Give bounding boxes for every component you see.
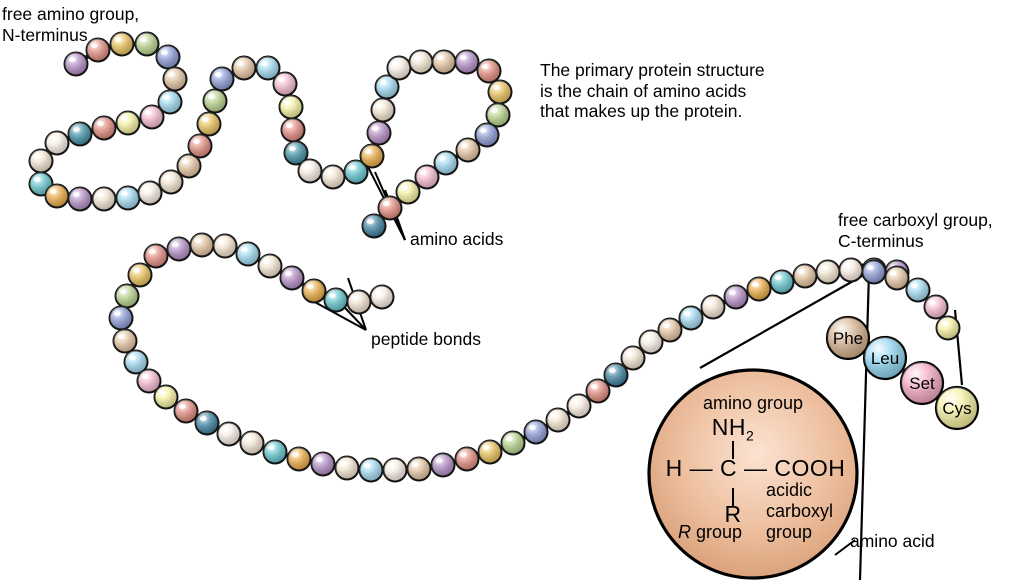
amino-acid-bead — [69, 123, 92, 146]
bead-highlight — [420, 170, 427, 175]
bead-shading — [817, 261, 840, 284]
bead-highlight — [140, 37, 147, 42]
amino-acid-bead — [863, 261, 886, 284]
amino-acid-bead — [303, 280, 326, 303]
bead-highlight — [436, 458, 443, 463]
bead-highlight — [292, 452, 299, 457]
amino-acid-bead — [93, 117, 116, 140]
bead-shading — [233, 57, 256, 80]
bead-shading — [196, 412, 219, 435]
amino-acids-label: amino acids — [410, 229, 503, 250]
bead-highlight — [529, 425, 536, 430]
amino-acid-bead — [114, 330, 137, 353]
bead-shading — [547, 409, 570, 432]
bead-shading — [587, 380, 610, 403]
bead-shading — [141, 106, 164, 129]
bead-shading — [46, 132, 69, 155]
amino-acid-bead — [525, 421, 548, 444]
amino-acid-bead — [196, 412, 219, 435]
amino-acid-bead — [160, 171, 183, 194]
bead-highlight — [97, 121, 104, 126]
n-terminus-label: free amino group, N-terminus — [2, 4, 139, 45]
bead-highlight — [367, 219, 374, 224]
bead-shading — [680, 307, 703, 330]
bead-shading — [384, 459, 407, 482]
bead-highlight — [867, 265, 874, 270]
amino-acid-bead — [476, 124, 499, 147]
bead-highlight — [775, 275, 782, 280]
amino-acid-bead — [214, 235, 237, 258]
bead-shading — [191, 234, 214, 257]
bead-highlight — [241, 247, 248, 252]
bead-highlight — [129, 355, 136, 360]
bead-shading — [840, 259, 863, 282]
bead-highlight — [172, 242, 179, 247]
amino-acid-bead — [299, 160, 322, 183]
bead-highlight — [439, 156, 446, 161]
amino-acid-bead — [288, 448, 311, 471]
bead-highlight — [202, 117, 209, 122]
amino-acid-bead — [368, 122, 391, 145]
amino-acid-bead — [145, 245, 168, 268]
bead-highlight — [729, 290, 736, 295]
bead-highlight — [626, 351, 633, 356]
bead-highlight — [551, 413, 558, 418]
bead-shading — [204, 90, 227, 113]
bead-highlight — [268, 445, 275, 450]
amino-acid-bead — [336, 457, 359, 480]
bead-shading — [456, 51, 479, 74]
carboxyl-label: acidic carboxyl group — [766, 480, 876, 543]
bead-highlight — [145, 110, 152, 115]
bead-shading — [489, 81, 512, 104]
bead-shading — [397, 181, 420, 204]
amino-acid-bead — [175, 400, 198, 423]
bead-highlight — [911, 283, 918, 288]
residue-label-set: Set — [909, 374, 935, 393]
bead-shading — [360, 459, 383, 482]
amino-acid-bead — [241, 432, 264, 455]
bead-highlight — [684, 311, 691, 316]
amino-acid-bead — [478, 60, 501, 83]
bead-shading — [303, 280, 326, 303]
amino-acid-bead — [141, 106, 164, 129]
amino-acid-bead — [410, 51, 433, 74]
amino-acid-bead — [155, 386, 178, 409]
bead-highlight — [380, 80, 387, 85]
bead-shading — [457, 139, 480, 162]
bead-highlight — [401, 185, 408, 190]
amino-acid-bead — [489, 81, 512, 104]
bead-shading — [30, 150, 53, 173]
bead-highlight — [73, 192, 80, 197]
bead-shading — [155, 386, 178, 409]
amino-acid-bead — [925, 296, 948, 319]
amino-acid-bead — [360, 459, 383, 482]
amino-acid-bead — [456, 51, 479, 74]
bead-highlight — [375, 290, 382, 295]
bead-shading — [282, 119, 305, 142]
bead-highlight — [218, 239, 225, 244]
bead-shading — [361, 145, 384, 168]
bead-shading — [771, 271, 794, 294]
bead-highlight — [352, 295, 359, 300]
amino-acid-bead — [771, 271, 794, 294]
bead-shading — [325, 289, 348, 312]
bead-highlight — [263, 259, 270, 264]
nh2-text: NH — [712, 414, 746, 440]
bead-highlight — [572, 399, 579, 404]
bead-highlight — [506, 436, 513, 441]
bead-highlight — [161, 50, 168, 55]
bead-highlight — [340, 461, 347, 466]
bead-shading — [525, 421, 548, 444]
backbone-line: H — C — COOH — [653, 456, 858, 481]
amino-acid-bead — [117, 112, 140, 135]
bead-shading — [312, 453, 335, 476]
bead-shading — [408, 458, 431, 481]
bead-shading — [117, 112, 140, 135]
bead-highlight — [50, 136, 57, 141]
amino-acid-bead — [397, 181, 420, 204]
amino-acid-bead — [363, 215, 386, 238]
diagram-canvas: PheLeuSetCys free amino group, N-terminu… — [0, 0, 1013, 586]
bead-highlight — [303, 164, 310, 169]
amino-acid-bead — [259, 255, 282, 278]
amino-acid-bead — [348, 291, 371, 314]
bead-shading — [117, 187, 140, 210]
amino-acid-bead — [69, 188, 92, 211]
bead-highlight — [289, 146, 296, 151]
bead-highlight — [483, 445, 490, 450]
bead-shading — [93, 188, 116, 211]
amino-acid-bead — [191, 234, 214, 257]
bead-shading — [416, 166, 439, 189]
r-group-rest: group — [691, 522, 742, 542]
bead-highlight — [149, 249, 156, 254]
bead-shading — [886, 267, 909, 290]
amino-acid-bead — [605, 364, 628, 387]
amino-acid-bead — [680, 307, 703, 330]
amino-acid-bead — [408, 458, 431, 481]
amino-acid-bead — [110, 307, 133, 330]
amino-acid-bead — [937, 317, 960, 340]
bead-shading — [336, 457, 359, 480]
bead-shading — [164, 68, 187, 91]
bead-highlight — [493, 85, 500, 90]
bead-shading — [198, 113, 221, 136]
bead-highlight — [284, 100, 291, 105]
amino-acid-bead — [164, 68, 187, 91]
bead-shading — [371, 286, 394, 309]
bead-highlight — [159, 390, 166, 395]
bead-highlight — [941, 321, 948, 326]
bead-shading — [129, 264, 152, 287]
amino-acid-bead — [139, 182, 162, 205]
bead-highlight — [307, 284, 314, 289]
amino-acid-bead — [218, 423, 241, 446]
bead-highlight — [644, 335, 651, 340]
bead-highlight — [365, 149, 372, 154]
bead-shading — [348, 291, 371, 314]
bead-highlight — [844, 263, 851, 268]
bead-highlight — [929, 300, 936, 305]
amino-group-label: amino group — [653, 394, 853, 414]
bead-shading — [139, 182, 162, 205]
bead-shading — [907, 279, 930, 302]
amino-acid-bead — [432, 454, 455, 477]
bead-shading — [937, 317, 960, 340]
amino-acid-bead — [702, 296, 725, 319]
bead-shading — [388, 57, 411, 80]
bead-highlight — [316, 457, 323, 462]
amino-acid-bead — [46, 185, 69, 208]
amino-acid-bead — [93, 188, 116, 211]
bead-shading — [69, 123, 92, 146]
bead-shading — [264, 441, 287, 464]
bead-shading — [299, 160, 322, 183]
bead-highlight — [798, 269, 805, 274]
bead-shading — [363, 215, 386, 238]
bead-highlight — [706, 300, 713, 305]
bead-highlight — [121, 116, 128, 121]
nh2-group: NH2 — [653, 415, 813, 444]
peptide-bonds-label: peptide bonds — [371, 329, 481, 350]
bead-shading — [379, 197, 402, 220]
amino-acid-bead — [547, 409, 570, 432]
amino-acid-bead — [322, 166, 345, 189]
bead-highlight — [752, 282, 759, 287]
bead-shading — [456, 448, 479, 471]
bead-shading — [281, 267, 304, 290]
bead-highlight — [591, 384, 598, 389]
bead-highlight — [200, 416, 207, 421]
bead-highlight — [163, 95, 170, 100]
bead-highlight — [412, 462, 419, 467]
amino-acid-bead — [129, 264, 152, 287]
amino-acid-bead — [312, 453, 335, 476]
bead-shading — [160, 171, 183, 194]
bead-shading — [605, 364, 628, 387]
bead-highlight — [372, 126, 379, 131]
amino-acid-bead — [264, 441, 287, 464]
amino-acid-bead — [30, 150, 53, 173]
amino-acid-bead — [817, 261, 840, 284]
amino-acid-bead — [282, 119, 305, 142]
bead-highlight — [168, 72, 175, 77]
bead-highlight — [179, 404, 186, 409]
bead-highlight — [482, 64, 489, 69]
bead-shading — [46, 185, 69, 208]
bead-shading — [702, 296, 725, 319]
bead-shading — [157, 46, 180, 69]
bead-shading — [863, 261, 886, 284]
bead-shading — [725, 286, 748, 309]
bead-highlight — [261, 61, 268, 66]
amino-acid-bead — [886, 267, 909, 290]
bead-shading — [322, 166, 345, 189]
c-terminus-label: free carboxyl group, C-terminus — [838, 210, 993, 251]
residue-label-leu: Leu — [871, 349, 899, 368]
amino-acid-bead — [211, 68, 234, 91]
bead-shading — [280, 96, 303, 119]
bead-highlight — [392, 61, 399, 66]
bead-highlight — [50, 189, 57, 194]
bead-shading — [175, 400, 198, 423]
bead-highlight — [286, 123, 293, 128]
bead-shading — [372, 99, 395, 122]
amino-acid-bead — [840, 259, 863, 282]
bead-highlight — [821, 265, 828, 270]
bead-shading — [622, 347, 645, 370]
bead-highlight — [245, 436, 252, 441]
bead-highlight — [326, 170, 333, 175]
amino-acid-bead — [659, 319, 682, 342]
bead-highlight — [142, 374, 149, 379]
bead-shading — [69, 188, 92, 211]
amino-acid-bead — [622, 347, 645, 370]
bead-shading — [568, 395, 591, 418]
bead-highlight — [143, 186, 150, 191]
bead-highlight — [114, 311, 121, 316]
bead-shading — [168, 238, 191, 261]
bead-shading — [237, 243, 260, 266]
amino-acid-bead — [116, 285, 139, 308]
bead-highlight — [34, 177, 41, 182]
description-text: The primary protein structure is the cha… — [540, 60, 765, 122]
bead-highlight — [329, 293, 336, 298]
bead-shading — [478, 60, 501, 83]
bead-highlight — [121, 191, 128, 196]
amino-acid-bead — [794, 265, 817, 288]
bead-shading — [145, 245, 168, 268]
bead-shading — [241, 432, 264, 455]
amino-acid-bead — [237, 243, 260, 266]
bead-shading — [110, 307, 133, 330]
bead-shading — [925, 296, 948, 319]
bead-shading — [214, 235, 237, 258]
amino-acid-bead — [379, 197, 402, 220]
amino-acid-bead — [168, 238, 191, 261]
amino-acid-bead — [157, 46, 180, 69]
bead-highlight — [133, 268, 140, 273]
amino-acid-bead — [46, 132, 69, 155]
amino-acid-bead — [204, 90, 227, 113]
bead-shading — [218, 423, 241, 446]
bead-highlight — [890, 271, 897, 276]
bead-shading — [259, 255, 282, 278]
bead-highlight — [414, 55, 421, 60]
bead-highlight — [437, 55, 444, 60]
amino-acid-bead — [65, 53, 88, 76]
amino-acid-bead — [725, 286, 748, 309]
amino-acid-bead — [502, 432, 525, 455]
amino-acid-bead — [479, 441, 502, 464]
nh2-subscript: 2 — [746, 428, 754, 444]
bead-shading — [368, 122, 391, 145]
bead-highlight — [376, 103, 383, 108]
amino-acid-bead — [456, 448, 479, 471]
bead-shading — [659, 319, 682, 342]
bead-highlight — [237, 61, 244, 66]
bead-shading — [274, 73, 297, 96]
amino-acid-bead — [433, 51, 456, 74]
bead-highlight — [69, 57, 76, 62]
bead-highlight — [120, 289, 127, 294]
bead-highlight — [34, 154, 41, 159]
bead-highlight — [195, 238, 202, 243]
bead-shading — [116, 285, 139, 308]
bead-highlight — [461, 143, 468, 148]
bead-shading — [93, 117, 116, 140]
bead-highlight — [193, 139, 200, 144]
residue-label-phe: Phe — [833, 329, 863, 348]
bead-highlight — [97, 192, 104, 197]
bead-highlight — [460, 452, 467, 457]
amino-acid-bead — [587, 380, 610, 403]
amino-acid-bead — [361, 145, 384, 168]
amino-acid-bead — [568, 395, 591, 418]
bead-shading — [748, 278, 771, 301]
bead-shading — [410, 51, 433, 74]
bead-highlight — [164, 175, 171, 180]
bead-highlight — [663, 323, 670, 328]
amino-acid-bead — [384, 459, 407, 482]
bead-highlight — [285, 271, 292, 276]
bead-highlight — [460, 55, 467, 60]
bead-highlight — [609, 368, 616, 373]
bead-highlight — [491, 108, 498, 113]
bead-highlight — [222, 427, 229, 432]
bead-highlight — [182, 159, 189, 164]
amino-acid-bead — [748, 278, 771, 301]
bead-highlight — [364, 463, 371, 468]
bead-highlight — [208, 94, 215, 99]
bead-shading — [114, 330, 137, 353]
bead-shading — [433, 51, 456, 74]
amino-acid-bead — [325, 289, 348, 312]
bead-highlight — [388, 463, 395, 468]
bead-highlight — [118, 334, 125, 339]
amino-acid-bead — [372, 99, 395, 122]
r-group-italic: R — [678, 522, 691, 542]
bead-shading — [65, 53, 88, 76]
bead-highlight — [278, 77, 285, 82]
amino-acid-bead — [416, 166, 439, 189]
bead-shading — [476, 124, 499, 147]
amino-acid-bead — [198, 113, 221, 136]
amino-acid-bead — [280, 96, 303, 119]
amino-acid-bead — [189, 135, 212, 158]
bead-highlight — [480, 128, 487, 133]
bead-shading — [479, 441, 502, 464]
amino-acid-bead — [457, 139, 480, 162]
bead-highlight — [349, 165, 356, 170]
amino-acid-bead — [233, 57, 256, 80]
bead-highlight — [215, 72, 222, 77]
bead-shading — [794, 265, 817, 288]
bead-highlight — [73, 127, 80, 132]
bead-highlight — [383, 201, 390, 206]
amino-acid-bead — [274, 73, 297, 96]
amino-acid-bead — [371, 286, 394, 309]
amino-acid-bead — [907, 279, 930, 302]
amino-acid-bead — [388, 57, 411, 80]
amino-acid-bead — [117, 187, 140, 210]
residue-label-cys: Cys — [942, 399, 971, 418]
bead-shading — [189, 135, 212, 158]
amino-acid-bead — [281, 267, 304, 290]
